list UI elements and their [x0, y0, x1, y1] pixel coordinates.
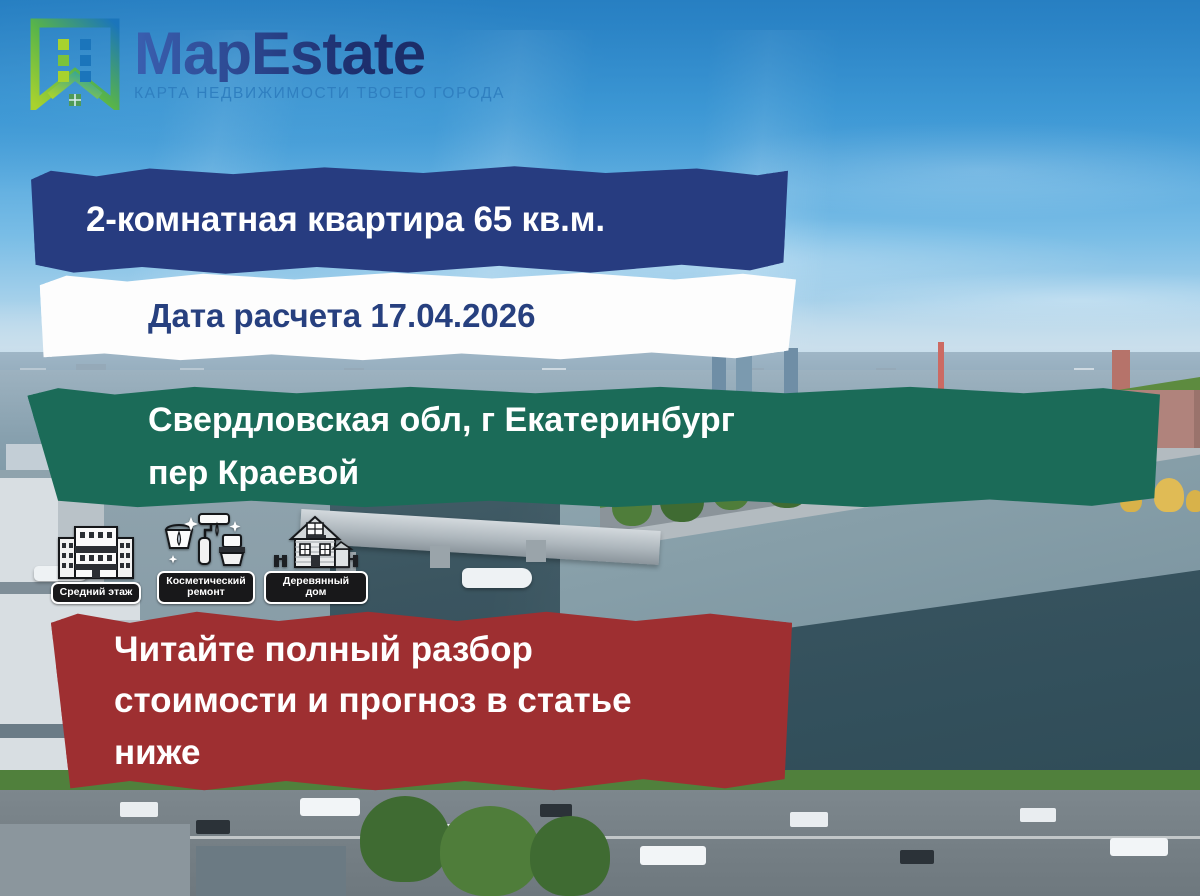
feature-badges: Средний этаж [44, 512, 374, 604]
badge-label: Средний этаж [51, 582, 142, 604]
badge-cosmetic-renovation[interactable]: Косметический ремонт [154, 511, 258, 605]
brand-logo[interactable]: MapEstate КАРТА НЕДВИЖИМОСТИ ТВОЕГО ГОРО… [30, 18, 505, 110]
brand-tagline: КАРТА НЕДВИЖИМОСТИ ТВОЕГО ГОРОДА [134, 85, 505, 103]
calculation-date-banner: Дата расчета 17.04.2026 [36, 268, 796, 364]
boat [462, 568, 532, 588]
property-title-text: 2-комнатная квартира 65 кв.м. [86, 200, 605, 240]
address-banner: Свердловская обл, г Екатеринбург пер Кра… [24, 383, 1160, 511]
bookmark-building-icon [30, 18, 120, 110]
apartment-building-icon [56, 522, 136, 580]
badge-middle-floor[interactable]: Средний этаж [44, 522, 148, 604]
wooden-house-icon [273, 511, 359, 569]
calculation-date-text: Дата расчета 17.04.2026 [148, 297, 535, 335]
address-text: Свердловская обл, г Екатеринбург пер Кра… [148, 394, 735, 499]
property-title-banner: 2-комнатная квартира 65 кв.м. [28, 164, 788, 276]
cta-banner[interactable]: Читайте полный разбор стоимости и прогно… [48, 608, 792, 794]
badge-wooden-house[interactable]: Деревянный дом [264, 511, 368, 605]
poster: MapEstate КАРТА НЕДВИЖИМОСТИ ТВОЕГО ГОРО… [0, 0, 1200, 896]
badge-label: Косметический ремонт [157, 571, 254, 605]
paint-roller-brush-icon [163, 511, 249, 569]
brand-wordmark: MapEstate [134, 25, 505, 83]
cta-text: Читайте полный разбор стоимости и прогно… [114, 624, 632, 777]
badge-label: Деревянный дом [264, 571, 368, 605]
